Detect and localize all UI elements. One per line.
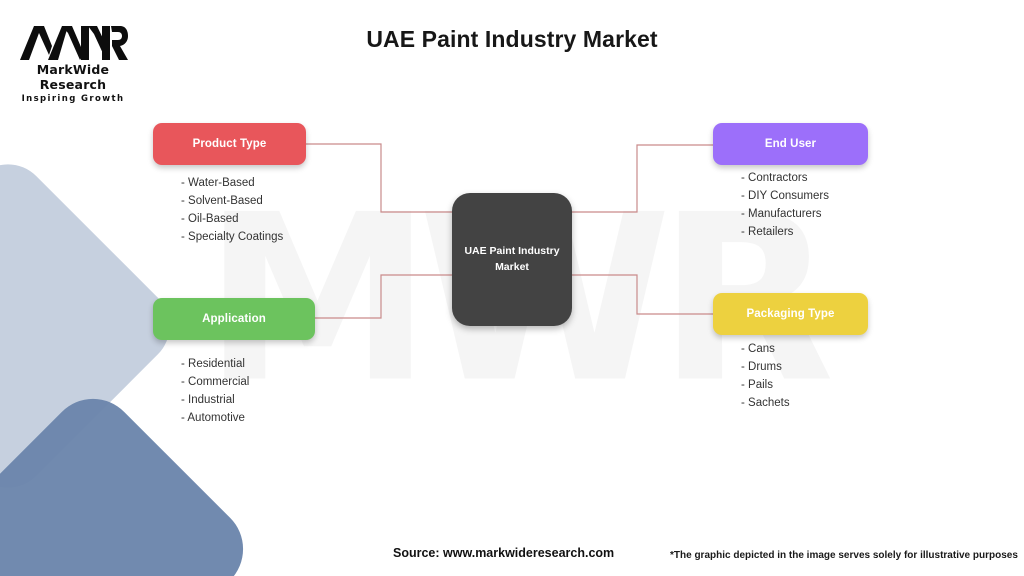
- list-item: - Specialty Coatings: [181, 232, 283, 244]
- branch-items-end-user: - Contractors - DIY Consumers - Manufact…: [741, 173, 829, 245]
- connector-end-user: [572, 145, 713, 212]
- footer-source[interactable]: Source: www.markwideresearch.com: [393, 546, 614, 560]
- list-item: - Industrial: [181, 395, 249, 407]
- list-item: - DIY Consumers: [741, 191, 829, 203]
- connector-packaging-type: [572, 275, 713, 314]
- list-item: - Water-Based: [181, 178, 283, 190]
- center-node[interactable]: UAE Paint Industry Market: [452, 193, 572, 326]
- center-node-label: UAE Paint Industry Market: [463, 244, 561, 274]
- list-item: - Contractors: [741, 173, 829, 185]
- footer-disclaimer: *The graphic depicted in the image serve…: [670, 550, 1018, 561]
- branch-pill-application[interactable]: Application: [153, 298, 315, 340]
- infographic-canvas: MWR MarkWide Research Inspiring Growth U…: [0, 0, 1024, 576]
- list-item: - Drums: [741, 362, 790, 374]
- list-item: - Solvent-Based: [181, 196, 283, 208]
- list-item: - Sachets: [741, 398, 790, 410]
- list-item: - Manufacturers: [741, 209, 829, 221]
- branch-label-end-user: End User: [765, 138, 816, 150]
- list-item: - Retailers: [741, 227, 829, 239]
- branch-items-product-type: - Water-Based - Solvent-Based - Oil-Base…: [181, 178, 283, 250]
- branch-label-packaging-type: Packaging Type: [746, 308, 834, 320]
- branch-items-application: - Residential - Commercial - Industrial …: [181, 359, 249, 431]
- connector-product-type: [306, 144, 452, 212]
- list-item: - Residential: [181, 359, 249, 371]
- branch-pill-packaging-type[interactable]: Packaging Type: [713, 293, 868, 335]
- connector-application: [315, 275, 452, 318]
- list-item: - Commercial: [181, 377, 249, 389]
- list-item: - Automotive: [181, 413, 249, 425]
- branch-label-product-type: Product Type: [193, 138, 267, 150]
- branch-pill-end-user[interactable]: End User: [713, 123, 868, 165]
- branch-pill-product-type[interactable]: Product Type: [153, 123, 306, 165]
- branch-label-application: Application: [202, 313, 266, 325]
- list-item: - Cans: [741, 344, 790, 356]
- list-item: - Pails: [741, 380, 790, 392]
- branch-items-packaging-type: - Cans - Drums - Pails - Sachets: [741, 344, 790, 416]
- list-item: - Oil-Based: [181, 214, 283, 226]
